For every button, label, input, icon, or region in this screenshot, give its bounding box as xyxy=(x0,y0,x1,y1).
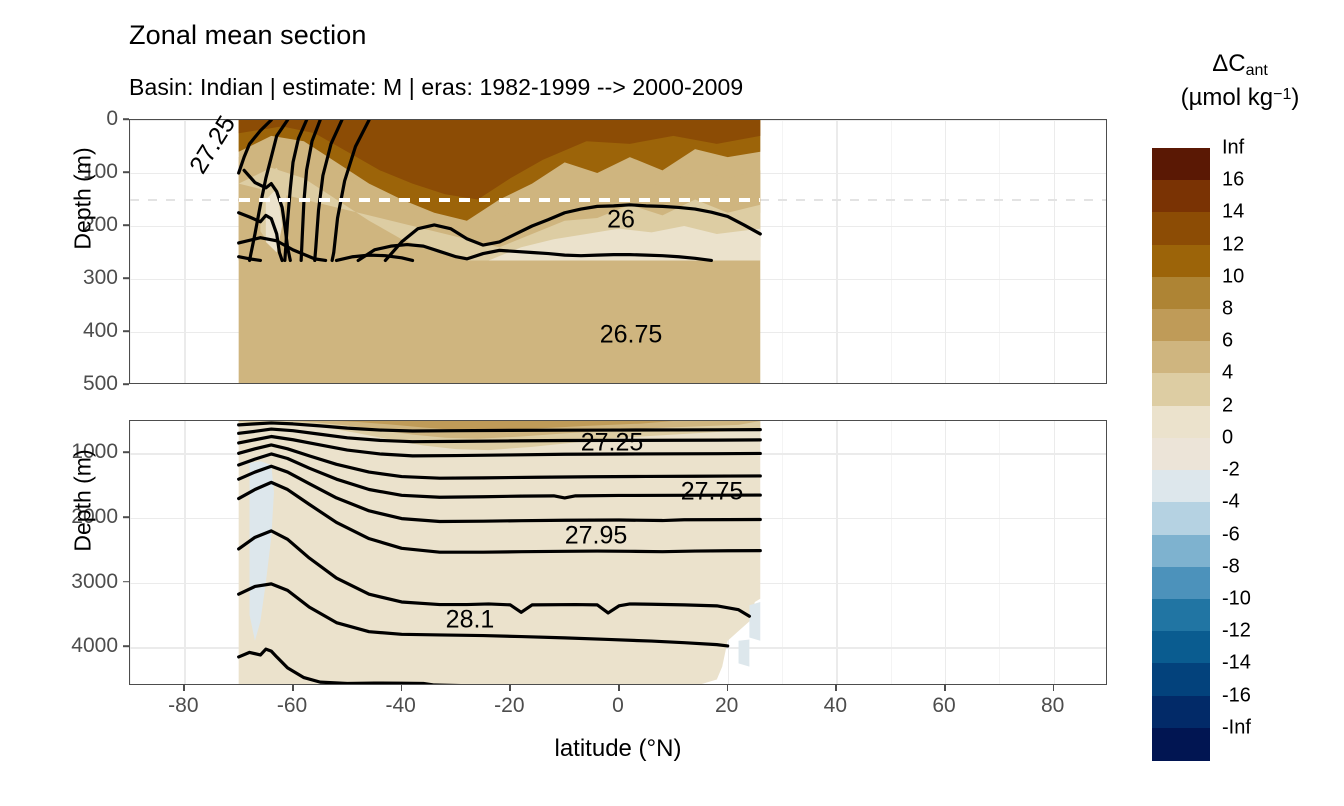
colorbar-band xyxy=(1152,277,1210,310)
colorbar-band xyxy=(1152,148,1210,181)
y-axis-tick-mark xyxy=(123,645,129,647)
x-axis-tick-mark xyxy=(183,685,185,691)
colorbar-band xyxy=(1152,728,1210,761)
lower-depth-panel xyxy=(129,420,1107,685)
contour-label-2795: 27.95 xyxy=(565,522,628,551)
page-title: Zonal mean section xyxy=(129,20,366,51)
colorbar-tick-label: 8 xyxy=(1222,298,1233,321)
colorbar-tick-label: Inf xyxy=(1222,137,1244,160)
x-axis-tick-label: -20 xyxy=(494,694,524,718)
colorbar-band xyxy=(1152,567,1210,600)
colorbar-tick-label: 6 xyxy=(1222,330,1233,353)
y-axis-tick-mark xyxy=(123,516,129,518)
y-axis-tick-mark xyxy=(123,224,129,226)
x-axis-tick-label: 60 xyxy=(932,694,955,718)
mixed-layer-depth-line xyxy=(239,198,761,202)
x-axis-tick-label: 40 xyxy=(824,694,847,718)
y-axis-tick-mark xyxy=(123,171,129,173)
lower-panel-contour-field xyxy=(130,421,1107,685)
legend-title: ΔCant (µmol kg−1) xyxy=(1145,48,1335,114)
colorbar-band xyxy=(1152,180,1210,213)
colorbar-tick-label: 4 xyxy=(1222,362,1233,385)
colorbar-tick-label: -2 xyxy=(1222,459,1240,482)
y-axis-tick-mark xyxy=(123,277,129,279)
x-axis-tick-mark xyxy=(509,685,511,691)
contour-label-2725-lower: 27.25 xyxy=(581,429,644,458)
colorbar-band xyxy=(1152,631,1210,664)
colorbar-tick-label: -16 xyxy=(1222,684,1251,707)
y-axis-tick-mark xyxy=(123,383,129,385)
x-axis-label: latitude (°N) xyxy=(129,735,1107,763)
x-axis-tick-label: -40 xyxy=(385,694,415,718)
x-axis-tick-mark xyxy=(292,685,294,691)
colorbar-tick-label: -8 xyxy=(1222,555,1240,578)
y-axis-tick-mark xyxy=(123,452,129,454)
colorbar-tick-label: -4 xyxy=(1222,491,1240,514)
y-axis-tick-label: 500 xyxy=(36,372,118,396)
y-axis-tick-label: 400 xyxy=(36,319,118,343)
legend-units-prefix: (µmol kg xyxy=(1181,84,1274,111)
colorbar-band xyxy=(1152,470,1210,503)
page-subtitle: Basin: Indian | estimate: M | eras: 1982… xyxy=(129,74,743,101)
y-axis-tick-label: 4000 xyxy=(36,634,118,658)
colorbar-tick-label: -6 xyxy=(1222,523,1240,546)
contour-label-26: 26 xyxy=(607,206,635,235)
colorbar-band xyxy=(1152,309,1210,342)
legend-units-exponent: −1 xyxy=(1273,86,1291,103)
colorbar-tick-label: 2 xyxy=(1222,394,1233,417)
colorbar-tick-label: -10 xyxy=(1222,587,1251,610)
lower-y-axis-label: Depth (m) xyxy=(70,406,97,596)
colorbar xyxy=(1152,148,1210,760)
colorbar-band xyxy=(1152,373,1210,406)
colorbar-tick-label: -12 xyxy=(1222,620,1251,643)
x-axis-tick-label: 0 xyxy=(612,694,624,718)
colorbar-band xyxy=(1152,599,1210,632)
upper-y-axis-label: Depth (m) xyxy=(70,104,97,294)
colorbar-tick-label: 10 xyxy=(1222,265,1244,288)
x-axis-tick-mark xyxy=(727,685,729,691)
legend-title-subscript: ant xyxy=(1246,62,1268,79)
colorbar-band xyxy=(1152,663,1210,696)
contour-label-2675: 26.75 xyxy=(600,321,663,350)
colorbar-band xyxy=(1152,245,1210,278)
contour-label-2775: 27.75 xyxy=(681,478,744,507)
x-axis-tick-label: -60 xyxy=(277,694,307,718)
colorbar-band xyxy=(1152,212,1210,245)
colorbar-band xyxy=(1152,406,1210,439)
colorbar-band xyxy=(1152,502,1210,535)
legend-title-delta-c: ΔC xyxy=(1212,50,1245,77)
x-axis-tick-label: 20 xyxy=(715,694,738,718)
colorbar-tick-label: -Inf xyxy=(1222,716,1251,739)
colorbar-band xyxy=(1152,438,1210,471)
colorbar-band xyxy=(1152,341,1210,374)
colorbar-tick-label: 16 xyxy=(1222,169,1244,192)
colorbar-band xyxy=(1152,535,1210,568)
colorbar-tick-label: 0 xyxy=(1222,426,1233,449)
y-axis-tick-mark xyxy=(123,330,129,332)
colorbar-band xyxy=(1152,696,1210,729)
x-axis-tick-mark xyxy=(835,685,837,691)
x-axis-tick-label: -80 xyxy=(168,694,198,718)
y-axis-tick-mark xyxy=(123,581,129,583)
y-axis-tick-mark xyxy=(123,118,129,120)
colorbar-tick-label: 14 xyxy=(1222,201,1244,224)
x-axis-tick-label: 80 xyxy=(1041,694,1064,718)
x-axis-tick-mark xyxy=(618,685,620,691)
colorbar-tick-label: 12 xyxy=(1222,233,1244,256)
x-axis-tick-mark xyxy=(944,685,946,691)
contour-label-281: 28.1 xyxy=(446,606,495,635)
x-axis-tick-mark xyxy=(1053,685,1055,691)
legend-units-suffix: ) xyxy=(1291,84,1299,111)
colorbar-tick-label: -14 xyxy=(1222,652,1251,675)
x-axis-tick-mark xyxy=(401,685,403,691)
